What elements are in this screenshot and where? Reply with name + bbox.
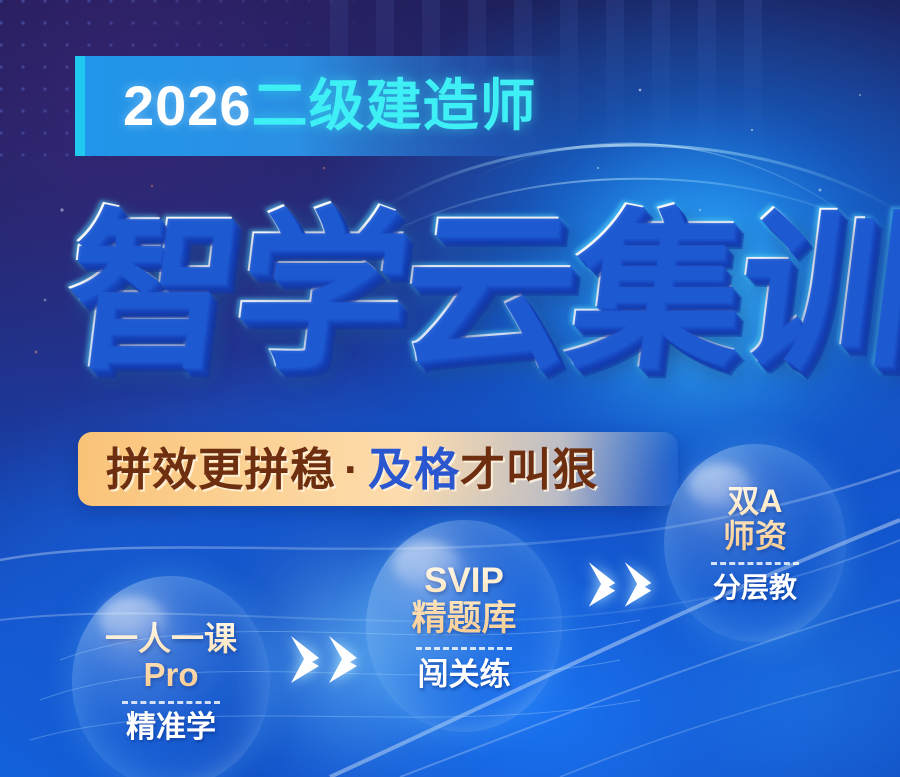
feature-divider [711,562,799,565]
slogan-separator: · [336,444,368,495]
feature-bubble-one-on-one[interactable]: 一人一课 Pro 精准学 [72,576,270,777]
main-title-char-2: 学 [223,205,412,377]
feature-title-line-1: 一人一课 [105,621,237,657]
feature-title: SVIP 精题库 [411,562,516,638]
feature-divider [122,701,220,704]
feature-title-line-1: SVIP [411,562,516,600]
feature-tagline: 闯关练 [418,659,511,690]
feature-title: 一人一课 Pro [105,621,237,692]
feature-title-line-2: Pro [105,657,237,693]
feature-tagline: 精准学 [126,713,216,743]
year-banner-text: 2026二级建造师 [123,78,537,134]
year-label: 2026 [123,74,252,137]
feature-divider [416,647,512,650]
slogan-part-c: 才叫狠 [460,444,598,495]
slogan-text: 拼效更拼稳·及格才叫狠 [106,447,598,492]
feature-tagline: 分层教 [713,574,797,602]
slogan-banner: 拼效更拼稳·及格才叫狠 [78,432,678,506]
year-banner: 2026二级建造师 [75,56,570,156]
main-title-char-1: 智 [55,205,244,377]
main-title-char-5: 训 [727,205,900,377]
exam-name-label: 二级建造师 [252,74,537,137]
promo-poster: 2026二级建造师 智 学 云 集 训 拼效更拼稳·及格才叫狠 一人一课 Pro… [0,0,900,777]
feature-title-line-2: 师资 [723,519,787,554]
double-chevron-right-icon [288,632,362,686]
feature-title-line-1: 双A [723,484,787,519]
feature-title: 双A 师资 [723,484,787,553]
main-title: 智 学 云 集 训 [54,196,867,386]
double-chevron-right-icon [586,558,656,610]
feature-bubble-dual-a-faculty[interactable]: 双A 师资 分层教 [664,444,846,642]
feature-title-line-2: 精题库 [411,600,516,638]
slogan-part-a: 拼效更拼稳 [106,444,336,495]
feature-bubble-svip[interactable]: SVIP 精题库 闯关练 [366,520,562,732]
main-title-char-4: 集 [559,205,748,377]
main-title-char-3: 云 [391,205,580,377]
slogan-part-b: 及格 [368,444,460,495]
